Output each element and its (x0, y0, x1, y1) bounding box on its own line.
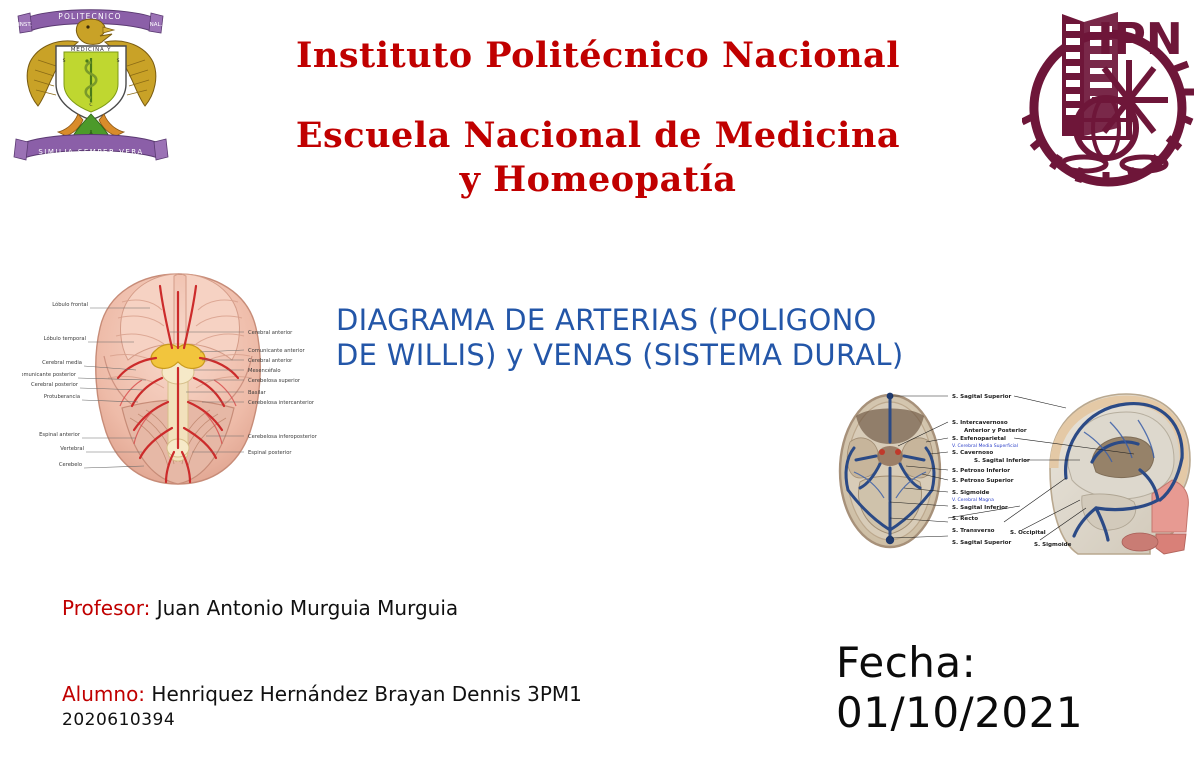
date-block: Fecha: 01/10/2021 (836, 638, 1083, 737)
brain-label-right-1: Comunicante anterior (248, 348, 305, 354)
diagram-title: DIAGRAMA DE ARTERIAS (POLIGONO DE WILLIS… (336, 303, 956, 374)
sinus-label-sigmoide-2: S. Sigmoide (1034, 542, 1072, 548)
date-label: Fecha: (836, 638, 1083, 688)
brain-label-right-5: Basilar (248, 390, 267, 396)
brain-label-left-8: Cerebelo (59, 462, 82, 468)
date-value: 01/10/2021 (836, 688, 1083, 738)
sinus-label-11: S. Sagital Inferior (952, 505, 1008, 511)
enmyh-crest-logo: POLITECNICO INST. NAL. (8, 2, 173, 177)
svg-text:S: S (117, 58, 120, 64)
sinus-label-3: S. Esfenoparietal (952, 436, 1006, 442)
brain-label-left-0: Lóbulo frontal (52, 301, 88, 308)
sinus-label-12: S. Recto (952, 516, 978, 522)
sinus-label-9: S. Sigmoide (952, 490, 990, 496)
brain-label-right-6: Cerebelosa intercanterior (248, 400, 315, 406)
brain-label-right-2: Cerebral anterior (248, 358, 293, 364)
sinus-label-vein-superficial: V. Cerebral Media Superficial (952, 443, 1018, 449)
institution-heading: Instituto Politécnico Nacional Escuela N… (198, 36, 998, 202)
sinus-label-8: S. Petroso Superior (952, 478, 1014, 484)
sinus-label-occipital: S. Occipital (1010, 530, 1046, 536)
institution-line-1: Instituto Politécnico Nacional (198, 36, 998, 76)
sinus-label-2: Anterior y Posterior (964, 428, 1027, 434)
sinus-label-13: S. Transverso (952, 528, 995, 534)
sinus-label-14: S. Sagital Superior (952, 540, 1011, 546)
cover-page: POLITECNICO INST. NAL. (0, 0, 1200, 781)
svg-text:MEDICINA Y: MEDICINA Y (71, 47, 112, 53)
footer-info: Profesor: Juan Antonio Murguia Murguia A… (62, 596, 682, 730)
brain-label-right-3: Mesencéfalo (248, 367, 281, 374)
svg-text:S: S (63, 58, 66, 64)
student-row: Alumno: Henriquez Hernández Brayan Denni… (62, 682, 682, 706)
brain-label-left-4: Cerebral posterior (31, 382, 79, 388)
professor-name: Juan Antonio Murguia Murguia (157, 596, 458, 620)
svg-text:C: C (89, 102, 92, 108)
brain-label-left-3: Comunicante posterior (22, 372, 77, 378)
sinus-label-5: S. Cavernoso (952, 450, 993, 456)
brain-label-right-8: Espinal posterior (248, 450, 292, 456)
brain-label-right-0: Cerebral anterior (248, 330, 293, 336)
brain-label-left-7: Vertebral (60, 446, 84, 452)
crest-shield: MEDICINA Y S S C (56, 46, 126, 120)
svg-text:NAL.: NAL. (150, 22, 163, 28)
institution-line-2a: Escuela Nacional de Medicina (296, 115, 900, 156)
professor-label: Profesor: (62, 596, 150, 620)
student-name: Henriquez Hernández Brayan Dennis 3PM1 (151, 682, 582, 706)
brain-label-right-4: Cerebelosa superior (248, 378, 301, 384)
sinus-label-6: S. Sagital Inferior (974, 458, 1030, 464)
sinus-label-0: S. Sagital Superior (952, 394, 1011, 400)
sinus-label-7: S. Petroso Inferior (952, 468, 1010, 474)
student-id: 2020610394 (62, 710, 682, 730)
svg-text:INST.: INST. (18, 22, 32, 28)
crest-bottom-banner: SIMILIA SEMPER VERA (14, 135, 168, 161)
brain-label-right-7: Cerebelosa inferoposterior (248, 434, 318, 440)
sinus-label-vein-magna: V. Cerebral Magna (952, 497, 994, 503)
axial-skull-base-illustration (840, 393, 940, 547)
svg-text:SIMILIA SEMPER VERA: SIMILIA SEMPER VERA (38, 148, 143, 156)
student-label: Alumno: (62, 682, 145, 706)
professor-row: Profesor: Juan Antonio Murguia Murguia (62, 596, 682, 620)
sagittal-head-illustration (1050, 394, 1190, 554)
diagram-title-line-2: DE WILLIS) y VENAS (SISTEMA DURAL) (336, 338, 903, 372)
dural-sinus-figure: S. Sagital Superior S. Intercavernoso An… (834, 382, 1200, 560)
brain-label-left-5: Protuberancia (44, 394, 80, 400)
ipn-letters: IPN (1097, 14, 1182, 65)
ipn-logo: IPN (1022, 8, 1194, 188)
diagram-title-line-1: DIAGRAMA DE ARTERIAS (POLIGONO (336, 303, 877, 337)
sinus-label-1: S. Intercavernoso (952, 420, 1008, 426)
brain-label-left-2: Cerebral media (42, 360, 82, 366)
brain-label-left-6: Espinal anterior (39, 432, 81, 438)
institution-line-2b: y Homeopatía (460, 159, 737, 200)
brain-arteries-figure: Lóbulo frontal Lóbulo temporal Cerebral … (22, 252, 334, 582)
brain-label-left-1: Lóbulo temporal (44, 335, 86, 342)
